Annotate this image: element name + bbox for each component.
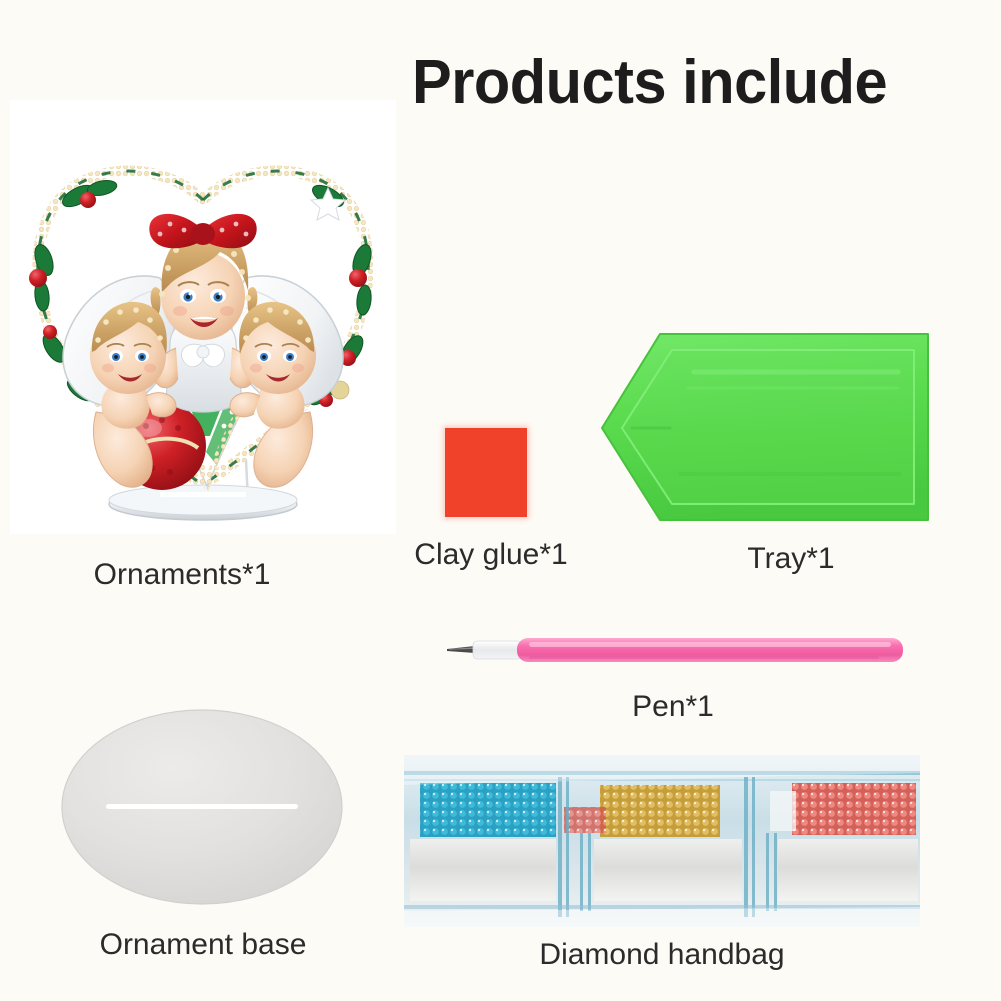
christmas-angel-ornament-photo [10,100,396,534]
tray-caption: Tray*1 [666,542,916,576]
pen-caption: Pen*1 [548,690,798,724]
page-title: Products include [412,52,950,114]
diamond-tray [598,328,934,528]
ornaments-product-card [10,100,396,534]
acrylic-oval-base [60,706,344,908]
product-include-infographic: Products include [0,0,1001,1001]
drill-pen [445,632,907,668]
diamond-bead-zip-bag [404,755,920,927]
clay-glue-square [445,428,527,517]
diamond-handbag-caption: Diamond handbag [530,938,794,972]
center-angel [149,214,257,412]
clay-glue-caption: Clay glue*1 [356,538,626,572]
ornament-base-caption: Ornament base [60,928,346,962]
ornaments-caption: Ornaments*1 [42,558,322,592]
